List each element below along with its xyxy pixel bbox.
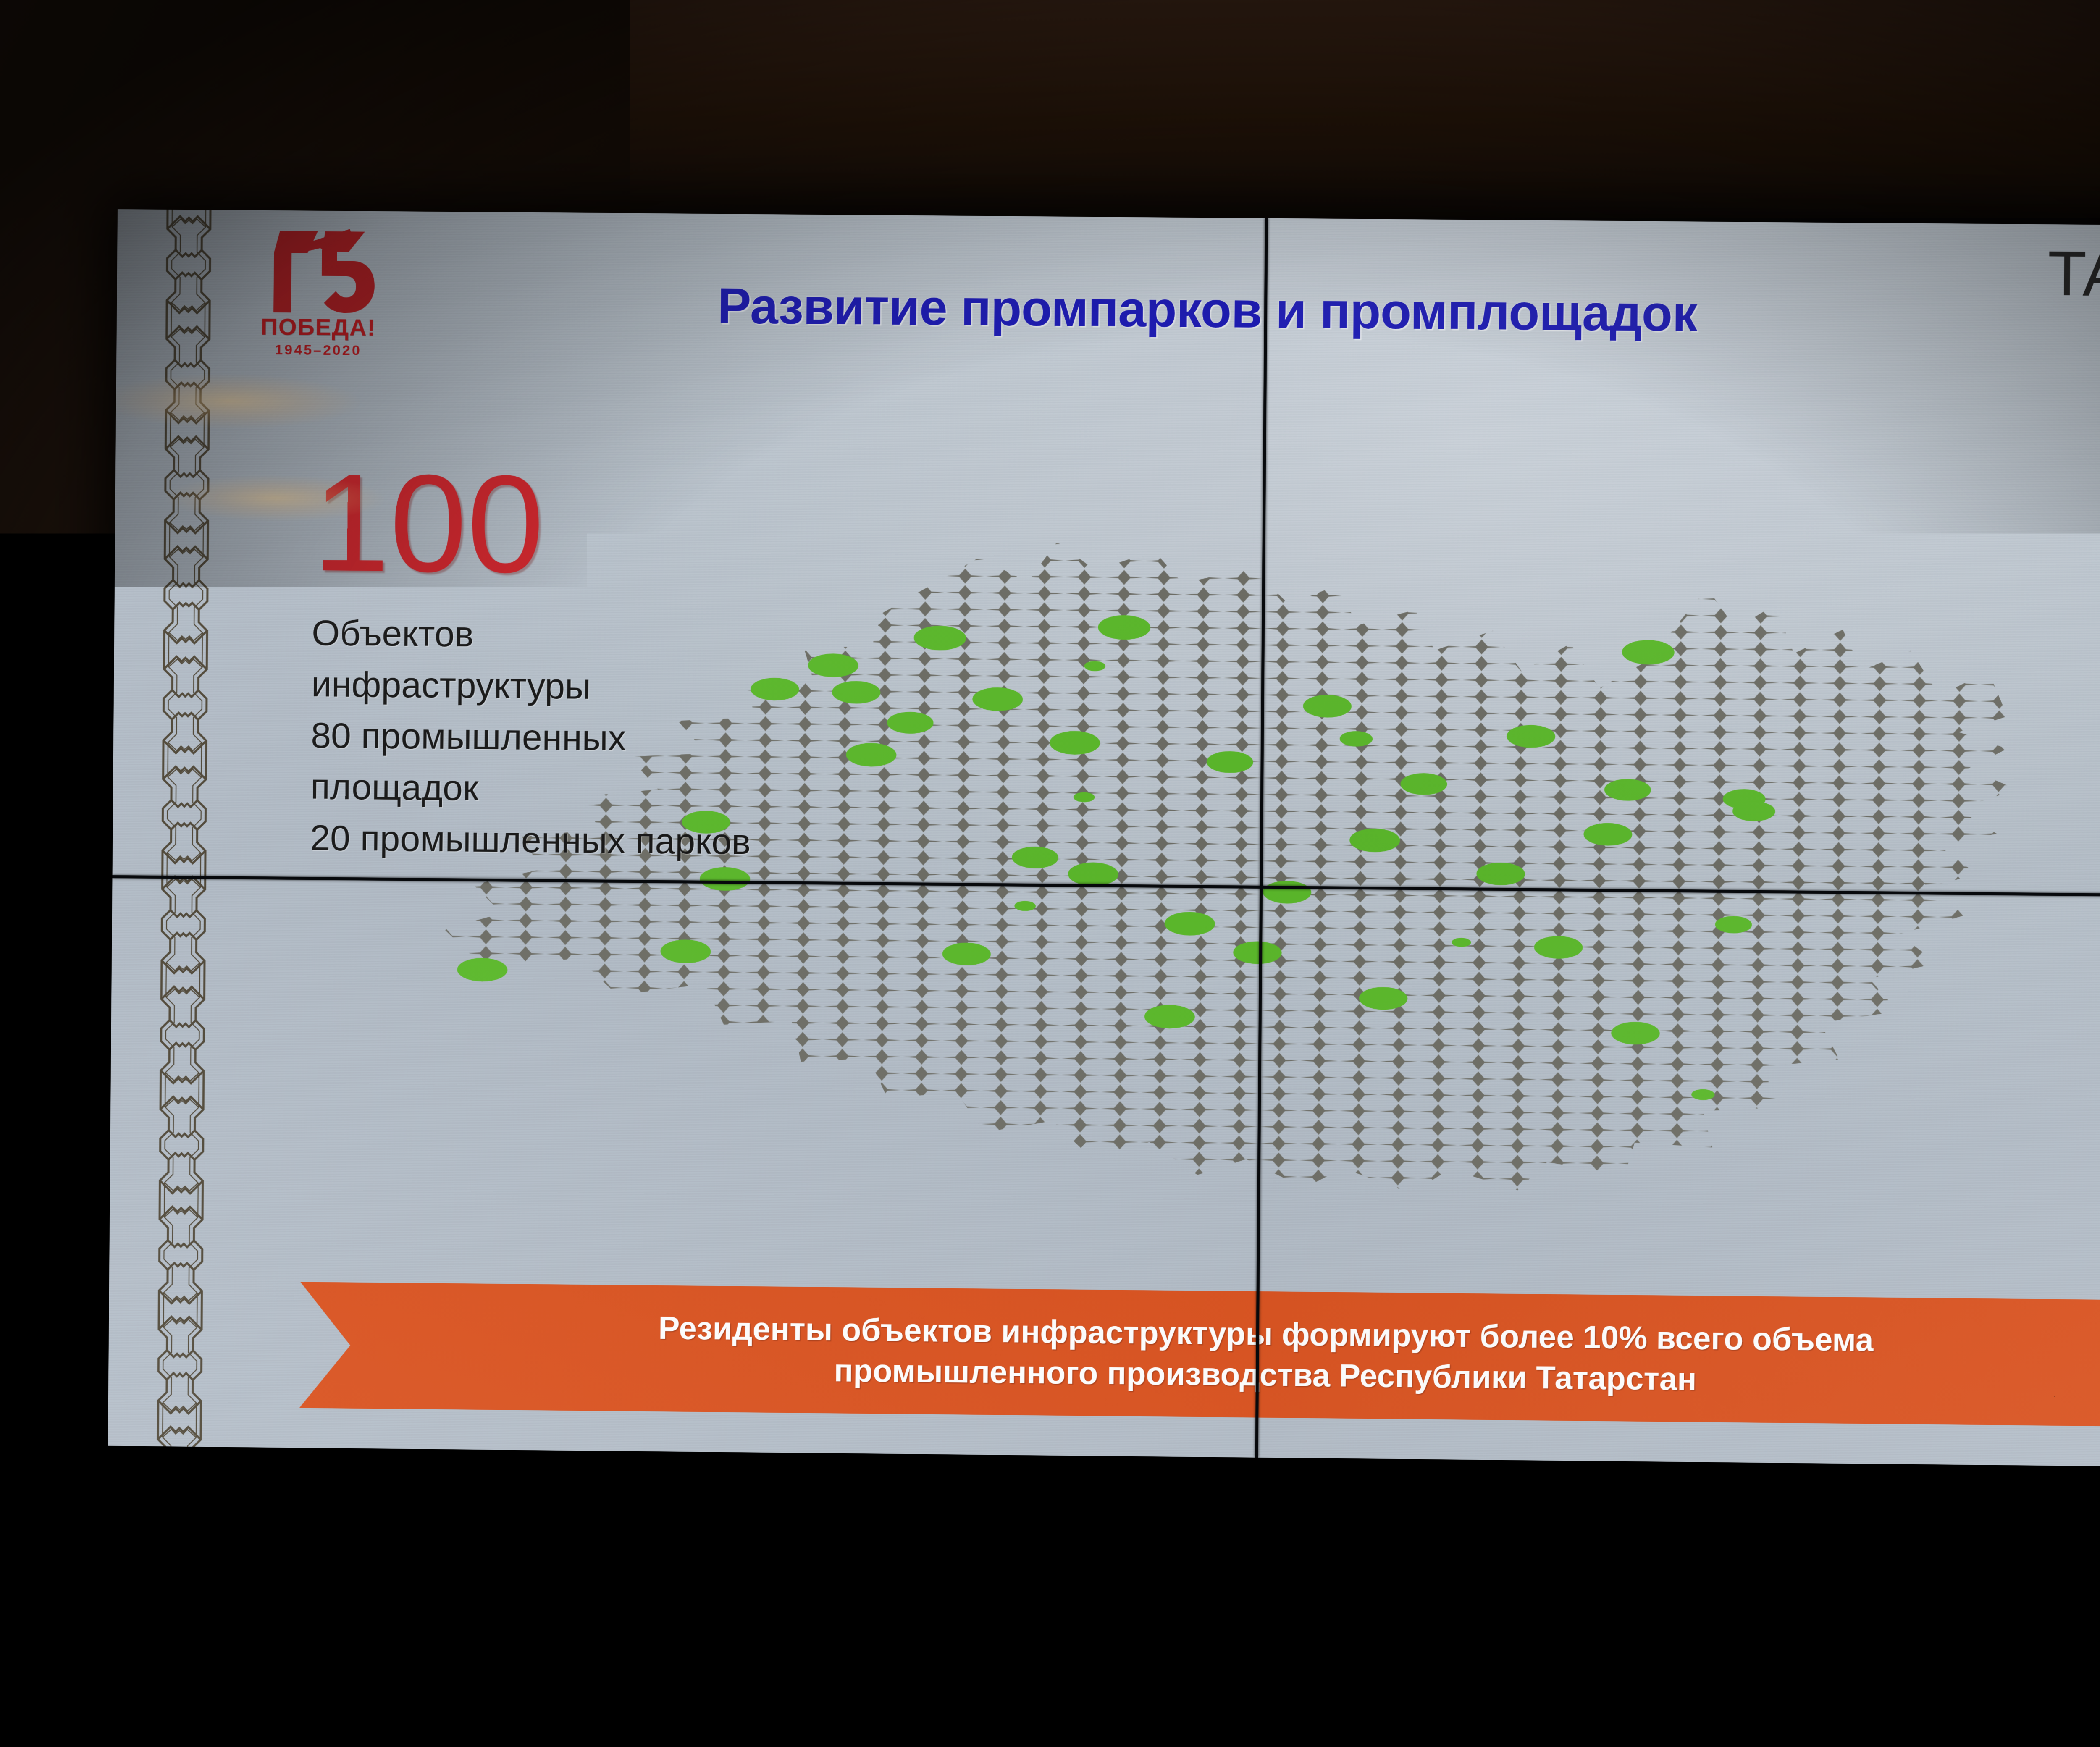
- kpi-line-2: инфраструктуры: [311, 658, 900, 715]
- banner-text: Резиденты объектов инфраструктуры формир…: [565, 1306, 1966, 1402]
- victory-years: 1945–2020: [249, 342, 388, 359]
- kpi-block: 100 Объектов инфраструктуры 80 промышлен…: [310, 463, 902, 869]
- kpi-line-1: Объектов: [312, 607, 901, 664]
- kpi-lines: Объектов инфраструктуры 80 промышленных …: [310, 607, 901, 869]
- tatar-ornament-border: [148, 210, 220, 1447]
- banner-line-1: Резиденты объектов инфраструктуры формир…: [658, 1310, 1874, 1358]
- kpi-line-4: площадок: [310, 761, 900, 818]
- person-man-foreground: [1075, 1529, 1386, 1747]
- kpi-line-3: 80 промышленных: [311, 710, 900, 766]
- kpi-number: 100: [312, 463, 902, 587]
- presentation-slide: ПОБЕДА! 1945–2020 ТАССР 1920-2020 Развит…: [108, 209, 2100, 1468]
- screenshot-stage: ПОБЕДА! 1945–2020 ТАССР 1920-2020 Развит…: [0, 0, 2100, 1747]
- screen-glare-1: [108, 373, 360, 430]
- banner-line-2: промышленного производства Республики Та…: [834, 1353, 1697, 1397]
- page-title: Развитие промпарков и промплощадок: [117, 272, 2100, 348]
- kpi-line-5: 20 промышленных парков: [310, 812, 899, 869]
- video-wall-display[interactable]: ПОБЕДА! 1945–2020 ТАССР 1920-2020 Развит…: [108, 209, 2100, 1468]
- highlight-banner: Резиденты объектов инфраструктуры формир…: [299, 1282, 2100, 1427]
